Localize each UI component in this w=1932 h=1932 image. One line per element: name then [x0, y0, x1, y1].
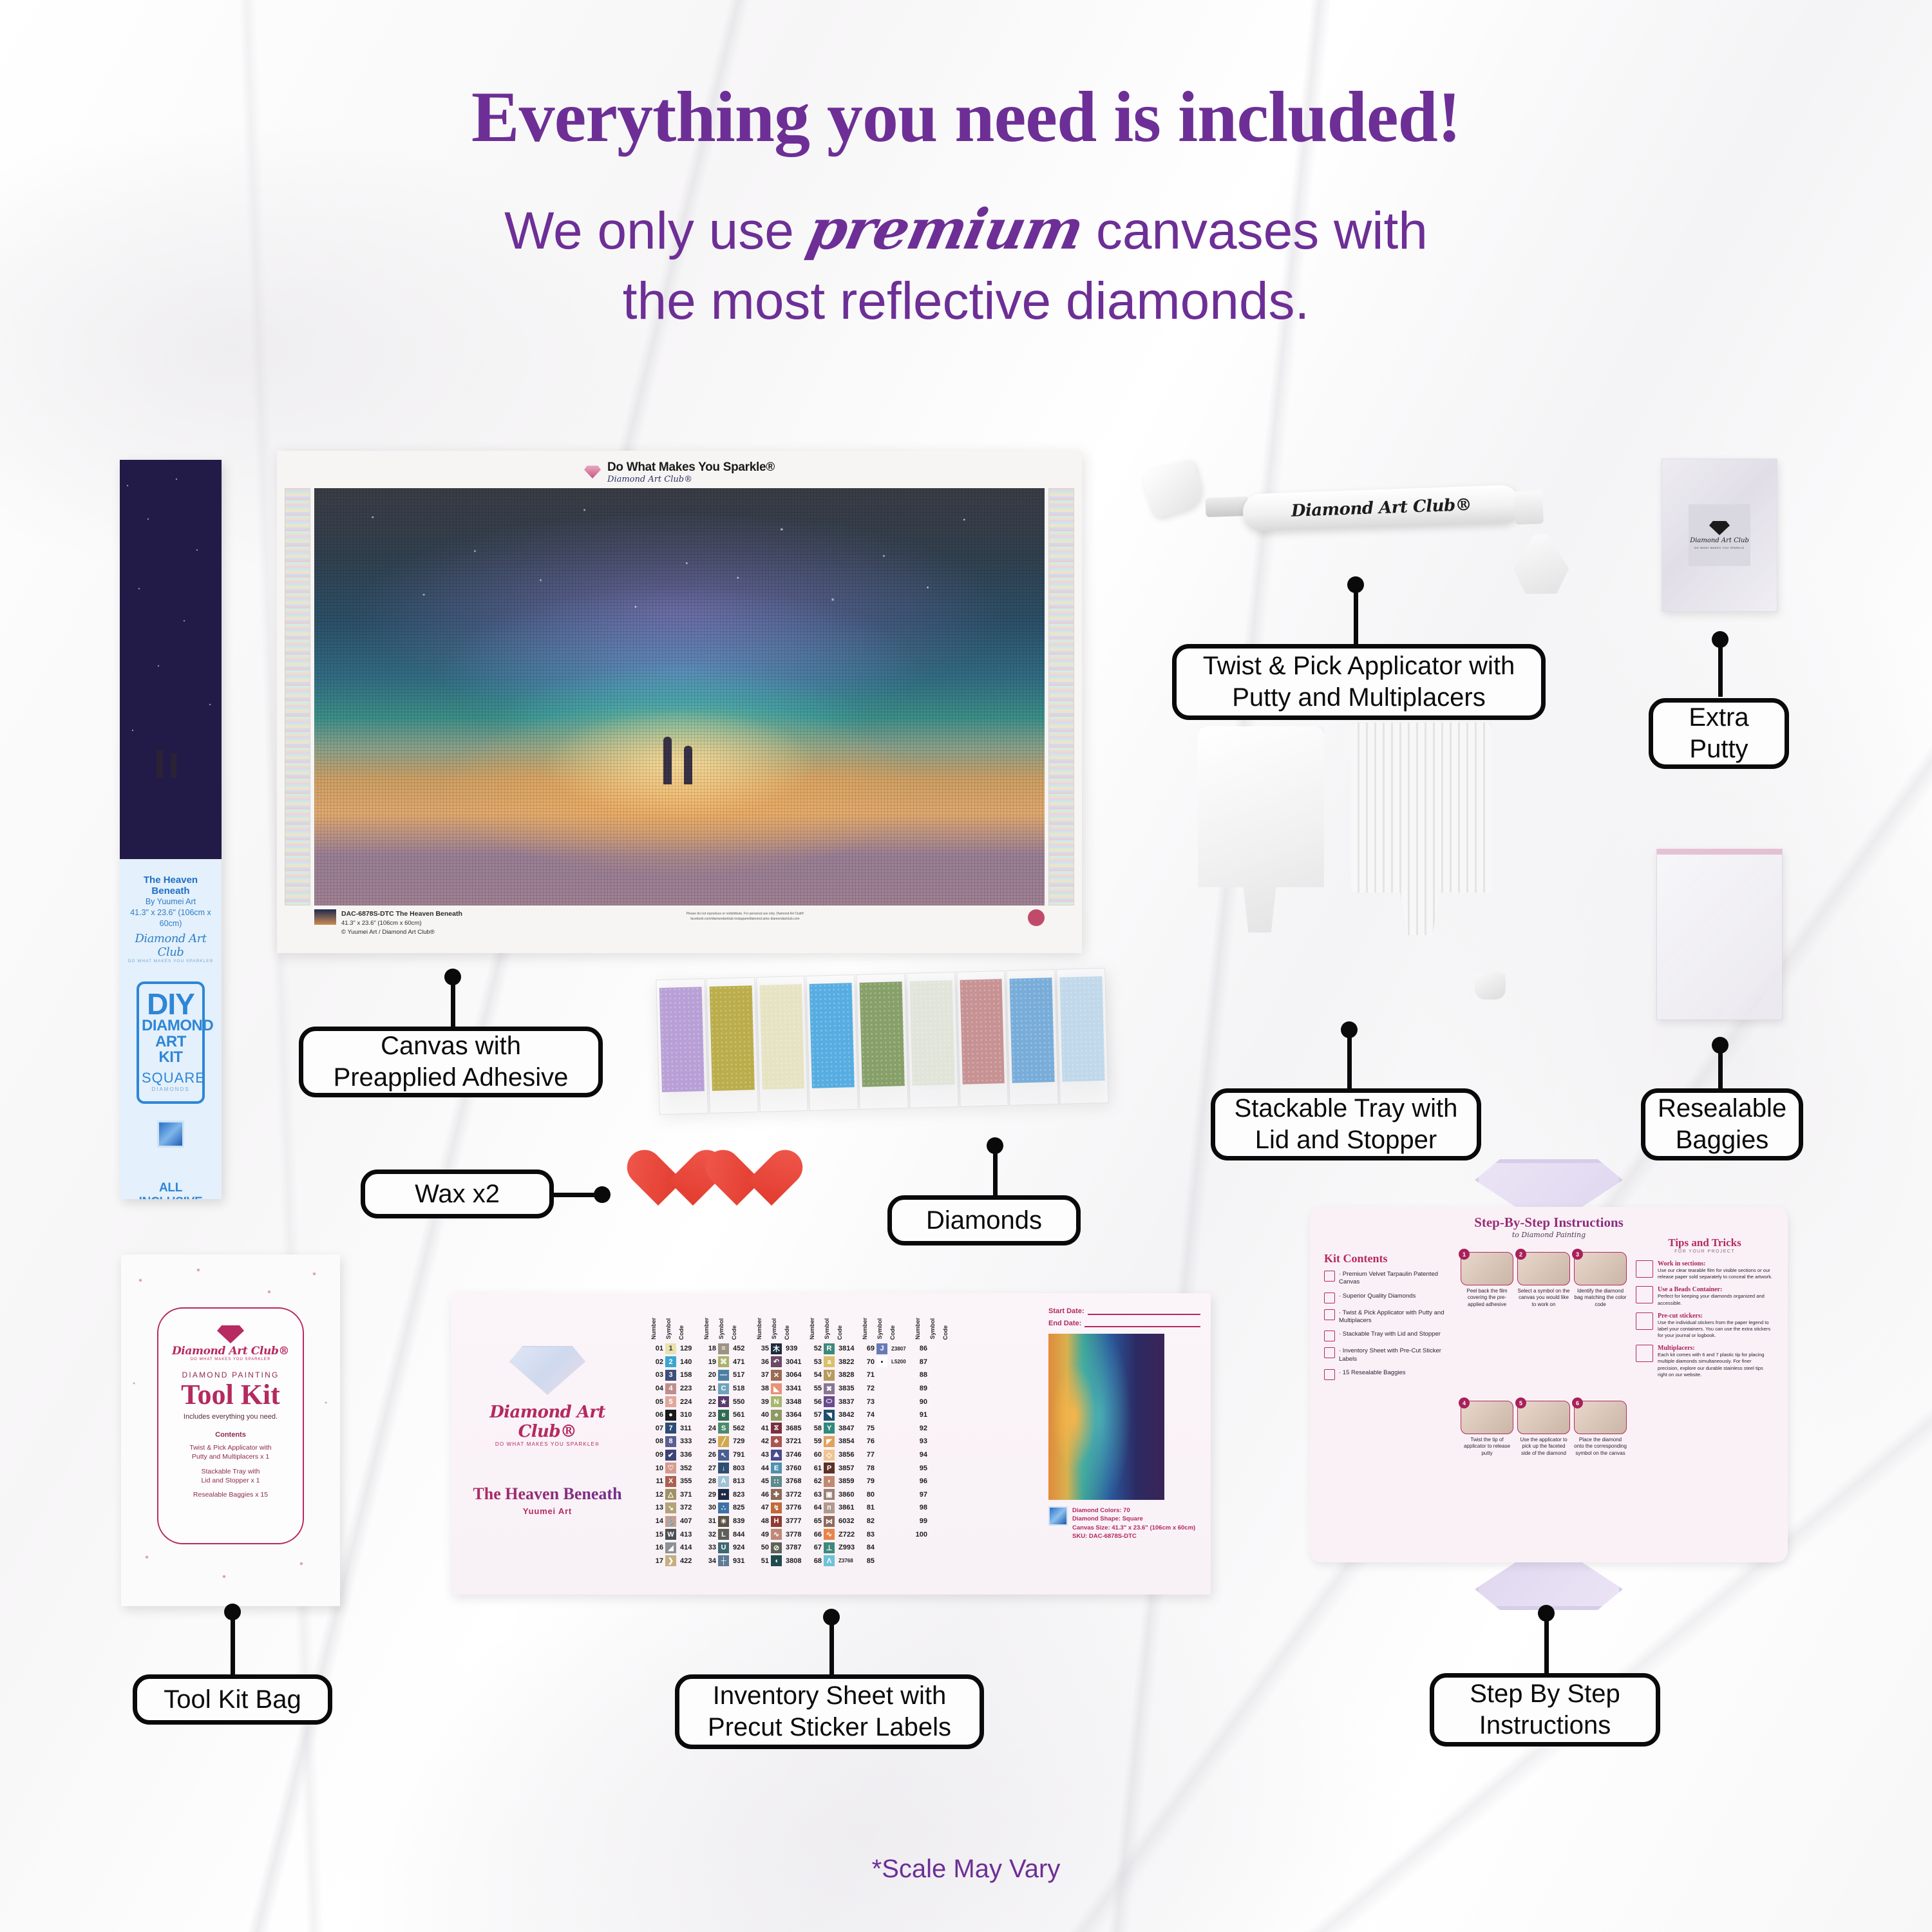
inventory-column-header: NumberSymbolCode: [862, 1302, 910, 1340]
inventory-row: 100: [914, 1528, 963, 1541]
inventory-canvas-size: Canvas Size: 41.3" x 23.6" (106cm x 60cm…: [1072, 1524, 1195, 1531]
inventory-column-header: NumberSymbolCode: [809, 1302, 857, 1340]
extra-putty-bag: Diamond Art Club DO WHAT MAKES YOU SPARK…: [1662, 459, 1777, 612]
inventory-row-code: Z3768: [837, 1558, 857, 1564]
subtitle-part-1: We only use: [504, 202, 794, 260]
inventory-row-code: 3837: [837, 1398, 857, 1406]
inventory-row-code: 550: [731, 1398, 752, 1406]
diamond-baggie-contents: [659, 987, 705, 1092]
inventory-row-symbol: ♣: [771, 1436, 782, 1447]
inventory-row-code: 3721: [784, 1437, 804, 1445]
inventory-row-number: 91: [914, 1411, 927, 1419]
tips-block: Tips and Tricks FOR YOUR PROJECT Work in…: [1636, 1224, 1774, 1546]
canvas-authenticity-seal-icon: [1028, 909, 1045, 926]
inventory-row: 44E3760: [756, 1461, 804, 1475]
instruction-step: 1Peel back the film covering the pre-app…: [1461, 1252, 1513, 1397]
inventory-row-number: 14: [650, 1517, 663, 1525]
inventory-row-symbol: 1: [665, 1343, 676, 1354]
page-subtitle: We only use premium canvases with the mo…: [0, 193, 1932, 336]
inventory-row-code: 3064: [784, 1371, 804, 1379]
inventory-header-number: Number: [650, 1318, 663, 1340]
inventory-column: NumberSymbolCode868788899091929394959697…: [914, 1302, 963, 1586]
inventory-row: 43⛰3746: [756, 1448, 804, 1462]
canvas-social-web: diamondartclub.com: [771, 917, 800, 921]
callout-canvas-line-2: Preapplied Adhesive: [334, 1063, 569, 1092]
inventory-row-symbol: [929, 1343, 940, 1354]
inventory-row-number: 30: [703, 1504, 716, 1511]
inventory-row-number: 02: [650, 1358, 663, 1366]
wax-callout-leader: [554, 1193, 599, 1197]
callout-tray-line-1: Stackable Tray with: [1235, 1094, 1458, 1122]
inventory-row: 48H3777: [756, 1515, 804, 1528]
inventory-row-number: 01: [650, 1345, 663, 1352]
tip-item-heading: Use a Beads Container:: [1658, 1286, 1774, 1293]
page-title: Everything you need is included!: [0, 76, 1932, 159]
inventory-row-number: 55: [809, 1385, 822, 1392]
tool-kit-content-item: Stackable Tray with Lid and Stopper x 1: [165, 1468, 296, 1486]
kit-contents-heading: Kit Contents: [1324, 1252, 1452, 1265]
inventory-row-symbol: [876, 1529, 887, 1540]
inventory-row: 35木939: [756, 1342, 804, 1356]
tool-kit-logo-tagline: DO WHAT MAKES YOU SPARKLE®: [165, 1358, 296, 1361]
inventory-row-number: 34: [703, 1557, 716, 1565]
inventory-row: 81: [862, 1501, 910, 1515]
inventory-row-symbol: R: [824, 1343, 835, 1354]
inventory-row-number: 15: [650, 1531, 663, 1539]
inventory-row-symbol: [876, 1370, 887, 1381]
inventory-row-code: 3787: [784, 1544, 804, 1551]
inventory-row-number: 24: [703, 1425, 716, 1432]
inventory-row: 95: [914, 1461, 963, 1475]
inventory-diamond-colors: Diamond Colors: 70: [1072, 1507, 1130, 1514]
tool-kit-bag-card: Diamond Art Club® DO WHAT MAKES YOU SPAR…: [157, 1307, 304, 1544]
callout-stackable-tray: Stackable Tray with Lid and Stopper: [1211, 1088, 1481, 1160]
inventory-row-code: 3861: [837, 1504, 857, 1511]
inventory-header-code: Code: [837, 1325, 857, 1340]
instruction-step: 2Select a symbol on the canvas you would…: [1517, 1252, 1570, 1397]
inventory-row-symbol: S: [718, 1423, 729, 1434]
inventory-row: 87: [914, 1356, 963, 1369]
inventory-row: 51◖3808: [756, 1555, 804, 1568]
tip-item-body: Use our clear tearable film for visible …: [1658, 1267, 1774, 1280]
kit-box-artwork: [120, 460, 222, 859]
tool-kit-title: Tool Kit: [165, 1381, 296, 1409]
inventory-sku: SKU: DAC-6878S-DTC: [1072, 1533, 1137, 1540]
inventory-row: 79: [862, 1475, 910, 1488]
putty-bag-inner: Diamond Art Club DO WHAT MAKES YOU SPARK…: [1689, 504, 1750, 566]
end-date-field[interactable]: End Date:: [1048, 1320, 1200, 1327]
tool-kit-item-3: Resealable Baggies x 15: [193, 1491, 268, 1499]
diamond-logo-icon: [509, 1346, 585, 1395]
tip-item: Pre-cut stickers:Use the individual stic…: [1636, 1312, 1774, 1340]
diamond-baggie-contents: [810, 983, 855, 1088]
inventory-column: NumberSymbolCode011129022140033158044223…: [650, 1302, 699, 1586]
inventory-header-symbol: Symbol: [718, 1318, 729, 1340]
inventory-row-code: 839: [731, 1517, 752, 1525]
wax-heart-2: [720, 1151, 777, 1207]
diamond-baggie: [1007, 969, 1059, 1106]
inventory-row: 077311: [650, 1422, 699, 1435]
inventory-meta-text: Diamond Colors: 70 Diamond Shape: Square…: [1072, 1506, 1195, 1541]
canvas-callout-leader: [451, 976, 455, 1027]
kit-contents-item: · Premium Velvet Tarpaulin Patented Canv…: [1324, 1271, 1452, 1287]
inventory-row: 58Y3847: [809, 1422, 857, 1435]
inventory-callout-leader: [829, 1616, 834, 1676]
inventory-row-code: L5200: [889, 1359, 910, 1365]
baggies-callout-leader: [1718, 1045, 1723, 1091]
kit-box-artist: By Yuumei Art: [126, 896, 215, 907]
inventory-row: 83: [862, 1528, 910, 1541]
inventory-header-symbol: Symbol: [771, 1318, 782, 1340]
inventory-header-number: Number: [703, 1318, 716, 1340]
tool-kit-item-1-line-2: Putty and Multiplacers x 1: [192, 1453, 269, 1461]
inventory-row-number: 95: [914, 1464, 927, 1472]
inventory-row: 31✳839: [703, 1515, 752, 1528]
inventory-artwork-thumbnail: [1048, 1334, 1164, 1500]
instruction-step: 3Identify the diamond bag matching the c…: [1574, 1252, 1627, 1397]
inventory-row-code: 3760: [784, 1464, 804, 1472]
diamonds-callout-leader: [993, 1145, 998, 1197]
inventory-row-code: 3847: [837, 1425, 857, 1432]
inventory-row: 39N3348: [756, 1395, 804, 1408]
instruction-step-number: 3: [1572, 1249, 1583, 1260]
inventory-row-symbol: ∴: [718, 1502, 729, 1513]
inventory-row-number: 26: [703, 1451, 716, 1459]
inventory-row-code: 518: [731, 1385, 752, 1392]
inventory-row-symbol: Λ: [824, 1555, 835, 1566]
inventory-row-code: 413: [678, 1531, 699, 1539]
inventory-row-code: 803: [731, 1464, 752, 1472]
inventory-row: 34┼931: [703, 1555, 752, 1568]
kit-contents-item-icon: [1324, 1347, 1335, 1358]
inventory-row-symbol: [929, 1463, 940, 1473]
inventory-header-number: Number: [756, 1318, 769, 1340]
inventory-row-number: 73: [862, 1398, 875, 1406]
inventory-row-number: 10: [650, 1464, 663, 1472]
inventory-row-number: 07: [650, 1425, 663, 1432]
inventory-row-code: 224: [678, 1398, 699, 1406]
inventory-row-symbol: ♠: [771, 1410, 782, 1421]
inventory-header-code: Code: [889, 1325, 910, 1340]
kit-box-label: The Heaven Beneath By Yuumei Art 41.3" x…: [120, 859, 222, 1199]
inventory-row-symbol: 5: [665, 1396, 676, 1407]
inventory-row-number: 93: [914, 1437, 927, 1445]
kit-contents-item: · 15 Resealable Baggies: [1324, 1369, 1452, 1380]
diamond-baggies-strip: [655, 968, 1109, 1115]
inventory-row-symbol: ∿: [771, 1529, 782, 1540]
inventory-row-number: 46: [756, 1491, 769, 1499]
inventory-row-symbol: H: [771, 1516, 782, 1527]
inventory-header-code: Code: [678, 1325, 699, 1340]
inventory-row-symbol: ↯: [771, 1502, 782, 1513]
callout-applicator-line-2: Putty and Multiplacers: [1232, 683, 1486, 712]
inventory-row-number: 44: [756, 1464, 769, 1472]
kit-box-figures: [156, 750, 182, 788]
inventory-row-number: 57: [809, 1411, 822, 1419]
inventory-row: 77: [862, 1448, 910, 1462]
inventory-row-code: 3348: [784, 1398, 804, 1406]
inventory-row-symbol: ✕: [771, 1370, 782, 1381]
callout-baggies-line-2: Baggies: [1676, 1126, 1769, 1154]
kit-contents-item-icon: [1324, 1331, 1335, 1341]
inventory-row-symbol: [929, 1516, 940, 1527]
instruction-step-caption: Twist the tip of applicator to release p…: [1461, 1437, 1513, 1457]
inventory-row-symbol: ▣: [824, 1489, 835, 1500]
inventory-row: 90: [914, 1395, 963, 1408]
inventory-row-code: 333: [678, 1437, 699, 1445]
inventory-row-code: 3828: [837, 1371, 857, 1379]
instruction-step-number: 2: [1515, 1249, 1526, 1260]
diamond-baggie-contents: [960, 979, 1005, 1084]
inventory-row: 21C518: [703, 1382, 752, 1396]
inventory-row: 13↘372: [650, 1501, 699, 1515]
tip-item-heading: Pre-cut stickers:: [1658, 1312, 1774, 1320]
inventory-row-symbol: =: [718, 1343, 729, 1354]
applicator-brand-text: Diamond Art Club®: [1291, 495, 1472, 521]
instruction-step-photo: 6: [1574, 1401, 1627, 1434]
inventory-row-symbol: [929, 1529, 940, 1540]
instruction-step: 5Use the applicator to pick up the facet…: [1517, 1401, 1570, 1546]
inventory-row-number: 12: [650, 1491, 663, 1499]
inventory-row-symbol: e: [718, 1410, 729, 1421]
inventory-row: 26↖791: [703, 1448, 752, 1462]
inventory-row: 86: [914, 1342, 963, 1356]
inventory-row-number: 83: [862, 1531, 875, 1539]
inventory-row-number: 76: [862, 1437, 875, 1445]
inventory-row-symbol: ●: [665, 1410, 676, 1421]
inventory-row: 50⊘3787: [756, 1541, 804, 1555]
inventory-row: 022140: [650, 1356, 699, 1369]
inventory-row: 06●310: [650, 1408, 699, 1422]
inventory-row: 36↶3041: [756, 1356, 804, 1369]
step-by-step-instruction-sheet: Step-By-Step Instructions to Diamond Pai…: [1294, 1159, 1803, 1610]
inventory-row-symbol: [929, 1436, 940, 1447]
inventory-row-symbol: [876, 1502, 887, 1513]
tip-item-icon: [1636, 1286, 1653, 1303]
inventory-row-symbol: ◢: [665, 1542, 676, 1553]
inventory-row: 60◇3856: [809, 1448, 857, 1462]
tip-item-icon: [1636, 1312, 1653, 1330]
inventory-row-code: 562: [731, 1425, 752, 1432]
inventory-row: 84: [862, 1541, 910, 1555]
inventory-row-code: 3364: [784, 1411, 804, 1419]
inventory-row-symbol: 3: [665, 1370, 676, 1381]
inventory-row-code: 3685: [784, 1425, 804, 1432]
inventory-row-number: 42: [756, 1437, 769, 1445]
inventory-row-number: 66: [809, 1531, 822, 1539]
inventory-row-symbol: ◤: [824, 1436, 835, 1447]
inventory-row: 59◤3854: [809, 1435, 857, 1448]
inventory-row: 23e561: [703, 1408, 752, 1422]
inventory-row-code: 939: [784, 1345, 804, 1352]
instructions-callout-leader: [1544, 1613, 1549, 1674]
kit-contents-item-icon: [1324, 1293, 1335, 1303]
inventory-header-code: Code: [942, 1325, 963, 1340]
inventory-row-number: 49: [756, 1531, 769, 1539]
inventory-row: 11X355: [650, 1475, 699, 1488]
instruction-step-caption: Select a symbol on the canvas you would …: [1517, 1288, 1570, 1308]
start-date-field[interactable]: Start Date:: [1048, 1307, 1200, 1315]
inventory-row-symbol: ✳: [718, 1516, 729, 1527]
inventory-row-symbol: [929, 1502, 940, 1513]
diamond-baggie: [1056, 968, 1108, 1104]
diamond-baggie: [806, 974, 858, 1111]
tip-item: Work in sections:Use our clear tearable …: [1636, 1260, 1774, 1280]
inventory-row-number: 37: [756, 1371, 769, 1379]
canvas-color-legend-right: [1048, 488, 1074, 905]
diamond-baggie-contents: [1060, 976, 1105, 1082]
inventory-row-number: 05: [650, 1398, 663, 1406]
inventory-row-symbol: W: [665, 1529, 676, 1540]
inventory-row-symbol: ✖: [824, 1383, 835, 1394]
inventory-row-symbol: [876, 1423, 887, 1434]
inventory-header-number: Number: [914, 1318, 927, 1340]
instruction-title: Step-By-Step Instructions: [1310, 1215, 1788, 1231]
diy-badge-line-1: DIY: [142, 990, 200, 1019]
inventory-row-symbol: ⧖: [771, 1423, 782, 1434]
inventory-row-symbol: [876, 1396, 887, 1407]
tray-stopper: [1475, 972, 1506, 999]
callout-tray-line-2: Lid and Stopper: [1255, 1126, 1437, 1154]
inventory-row-symbol: ∷: [771, 1476, 782, 1487]
inventory-row-number: 35: [756, 1345, 769, 1352]
inventory-row: 49∿3778: [756, 1528, 804, 1541]
inventory-row-number: 81: [862, 1504, 875, 1511]
inventory-row-symbol: [929, 1356, 940, 1367]
inventory-row-symbol: ⛰: [771, 1450, 782, 1461]
inventory-row-number: 41: [756, 1425, 769, 1432]
inventory-row-code: 561: [731, 1411, 752, 1419]
inventory-row-number: 36: [756, 1358, 769, 1366]
inventory-column: NumberSymbolCode18=45219⌘47120—51721C518…: [703, 1302, 752, 1586]
inventory-row: 80: [862, 1488, 910, 1502]
putty-callout-leader: [1718, 639, 1723, 697]
tray-callout-leader: [1347, 1029, 1352, 1094]
inventory-row: 088333: [650, 1435, 699, 1448]
inventory-row-symbol: ◇: [824, 1450, 835, 1461]
inventory-column-header: NumberSymbolCode: [756, 1302, 804, 1340]
kit-contents-item-label: · Stackable Tray with Lid and Stopper: [1339, 1331, 1441, 1341]
inventory-row-code: 3041: [784, 1358, 804, 1366]
inventory-row-number: 58: [809, 1425, 822, 1432]
inventory-row-symbol: ┼: [718, 1555, 729, 1566]
inventory-row: 89: [914, 1382, 963, 1396]
diy-badge-line-3: ART KIT: [142, 1034, 200, 1066]
diy-badge-shape-sub: DIAMONDS: [142, 1086, 200, 1092]
inventory-row-symbol: ♡: [665, 1463, 676, 1473]
inventory-sheet-meta: Start Date: End Date: Diamond Colors: 70…: [1038, 1293, 1211, 1595]
inventory-row-number: 97: [914, 1491, 927, 1499]
inventory-row-code: 140: [678, 1358, 699, 1366]
inventory-row-number: 40: [756, 1411, 769, 1419]
instruction-subtitle: to Diamond Painting: [1310, 1231, 1788, 1239]
inventory-row-symbol: ★: [718, 1396, 729, 1407]
inventory-row-number: 45: [756, 1477, 769, 1485]
inventory-row-number: 16: [650, 1544, 663, 1551]
inventory-artist: Yuumei Art: [462, 1506, 632, 1516]
inventory-row: 91: [914, 1408, 963, 1422]
inventory-sheet: Diamond Art Club® DO WHAT MAKES YOU SPAR…: [451, 1293, 1211, 1595]
inventory-row: 99: [914, 1515, 963, 1528]
inventory-row-number: 67: [809, 1544, 822, 1551]
inventory-row-symbol: [876, 1436, 887, 1447]
callout-baggies-line-1: Resealable: [1658, 1094, 1786, 1122]
inventory-row-number: 78: [862, 1464, 875, 1472]
diamond-baggie-contents: [759, 984, 804, 1090]
diamond-painting-canvas: Do What Makes You Sparkle® Diamond Art C…: [277, 451, 1082, 953]
inventory-row: 47↯3776: [756, 1501, 804, 1515]
inventory-row-number: 27: [703, 1464, 716, 1472]
inventory-row-code: 3854: [837, 1437, 857, 1445]
inventory-row: 70▪L5200: [862, 1356, 910, 1369]
inventory-row-number: 77: [862, 1451, 875, 1459]
tool-kit-logo-script: Diamond Art Club®: [165, 1345, 296, 1358]
inventory-row-code: 3856: [837, 1451, 857, 1459]
tool-kit-bag: Diamond Art Club® DO WHAT MAKES YOU SPAR…: [121, 1255, 340, 1606]
inventory-row-symbol: 木: [771, 1343, 782, 1354]
inventory-row: 67⊥Z993: [809, 1541, 857, 1555]
inventory-row-number: 70: [862, 1358, 875, 1366]
inventory-row-symbol: [929, 1370, 940, 1381]
inventory-row-code: 6032: [837, 1517, 857, 1525]
diamond-baggie-contents: [1010, 978, 1055, 1083]
callout-applicator-line-1: Twist & Pick Applicator with: [1203, 652, 1515, 680]
inventory-row-number: 47: [756, 1504, 769, 1511]
callout-instructions-line-2: Instructions: [1479, 1711, 1611, 1739]
inventory-row: 64п3861: [809, 1501, 857, 1515]
instruction-step-number: 1: [1459, 1249, 1470, 1260]
inventory-row-symbol: 4: [665, 1383, 676, 1394]
inventory-row: 055224: [650, 1395, 699, 1408]
tip-item: Use a Beads Container:Perfect for keepin…: [1636, 1286, 1774, 1306]
inventory-row-code: 3776: [784, 1504, 804, 1511]
inventory-row-code: 924: [731, 1544, 752, 1551]
subtitle-premium-word: premium: [801, 193, 1089, 267]
inventory-row-symbol: Y: [824, 1423, 835, 1434]
inventory-row-number: 20: [703, 1371, 716, 1379]
inventory-row: 33U924: [703, 1541, 752, 1555]
inventory-row-number: 25: [703, 1437, 716, 1445]
inventory-row: 17❯422: [650, 1555, 699, 1568]
inventory-row-symbol: [929, 1476, 940, 1487]
diamond-swatch-icon: [157, 1121, 184, 1148]
diamond-baggie: [706, 977, 758, 1113]
inventory-row: 30∴825: [703, 1501, 752, 1515]
instruction-step-caption: Peel back the film covering the pre-appl…: [1461, 1288, 1513, 1308]
callout-resealable-baggies: Resealable Baggies: [1641, 1088, 1803, 1160]
diy-kit-box: The Heaven Beneath By Yuumei Art 41.3" x…: [120, 460, 222, 1199]
inventory-row-symbol: ◣: [771, 1383, 782, 1394]
inventory-row-symbol: —: [718, 1370, 729, 1381]
inventory-row-code: 352: [678, 1464, 699, 1472]
inventory-row-code: 3814: [837, 1345, 857, 1352]
diamond-logo-icon: [1709, 521, 1730, 535]
kit-box-logo-script: Diamond Art Club: [126, 932, 215, 959]
inventory-row-code: 3772: [784, 1491, 804, 1499]
inventory-row: 98: [914, 1501, 963, 1515]
inventory-row-code: 336: [678, 1451, 699, 1459]
inventory-row: 56⬭3837: [809, 1395, 857, 1408]
putty-bag-tagline: DO WHAT MAKES YOU SPARKLE: [1694, 546, 1745, 549]
inventory-row-code: 825: [731, 1504, 752, 1511]
inventory-row: 09✔336: [650, 1448, 699, 1462]
inventory-row-number: 84: [862, 1544, 875, 1551]
inventory-row-number: 82: [862, 1517, 875, 1525]
inventory-row: 32L844: [703, 1528, 752, 1541]
inventory-row-code: 3835: [837, 1385, 857, 1392]
inventory-row: 044223: [650, 1382, 699, 1396]
tips-subtitle: FOR YOUR PROJECT: [1636, 1249, 1774, 1254]
